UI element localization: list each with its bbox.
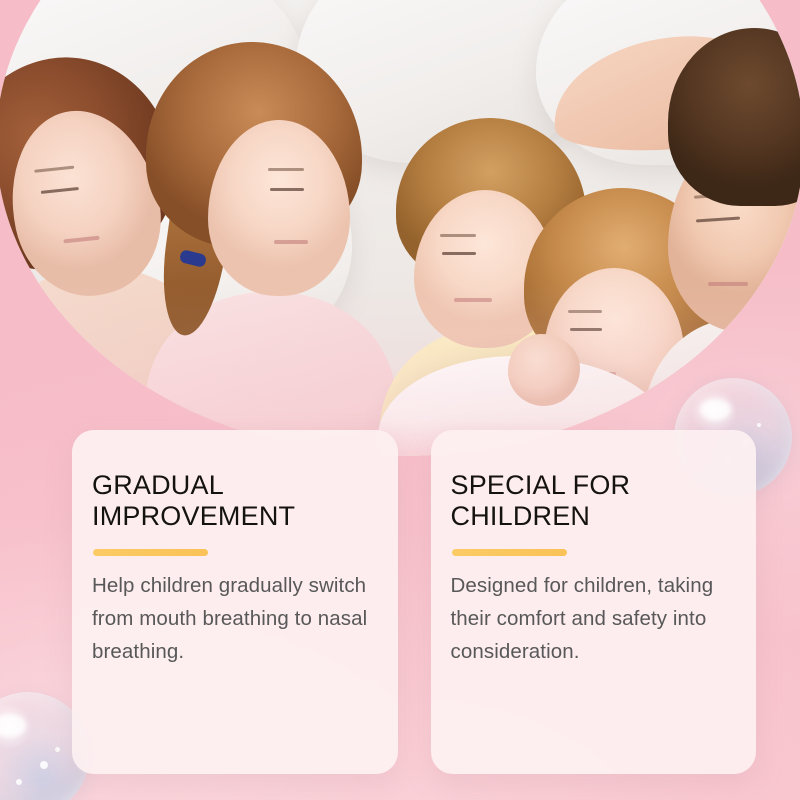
product-feature-poster: GRADUAL IMPROVEMENT Help children gradua… [0,0,800,800]
hero-photo-ellipse-mask [0,0,800,456]
bubble-spark [55,747,60,752]
feature-card-special-for-children[interactable]: SPECIAL FOR CHILDREN Designed for childr… [431,430,757,774]
closed-eye [270,188,304,191]
feature-card-list: GRADUAL IMPROVEMENT Help children gradua… [72,430,756,774]
mouth [454,298,492,302]
accent-divider [93,549,208,556]
feature-card-description: Designed for children, taking their comf… [451,569,729,669]
mouth [63,236,99,244]
accent-divider [452,549,567,556]
feature-card-description: Help children gradually switch from mout… [92,569,370,669]
feature-card-title: GRADUAL IMPROVEMENT [92,470,370,532]
feature-card-title: SPECIAL FOR CHILDREN [451,470,729,532]
bubble-spark [16,779,22,785]
mouth [274,240,308,244]
feature-card-gradual-improvement[interactable]: GRADUAL IMPROVEMENT Help children gradua… [72,430,398,774]
eyebrow [34,166,74,173]
bubble-spark [757,423,761,427]
girl-two-hand [508,334,580,406]
closed-eye [570,328,602,331]
hero-photo [0,0,800,456]
eyebrow [568,310,602,313]
eyebrow [440,234,476,237]
eyebrow [268,168,304,171]
bubble-spark [40,761,48,769]
closed-eye [696,216,740,222]
closed-eye [41,187,79,194]
mouth [708,282,748,286]
closed-eye [442,252,476,255]
